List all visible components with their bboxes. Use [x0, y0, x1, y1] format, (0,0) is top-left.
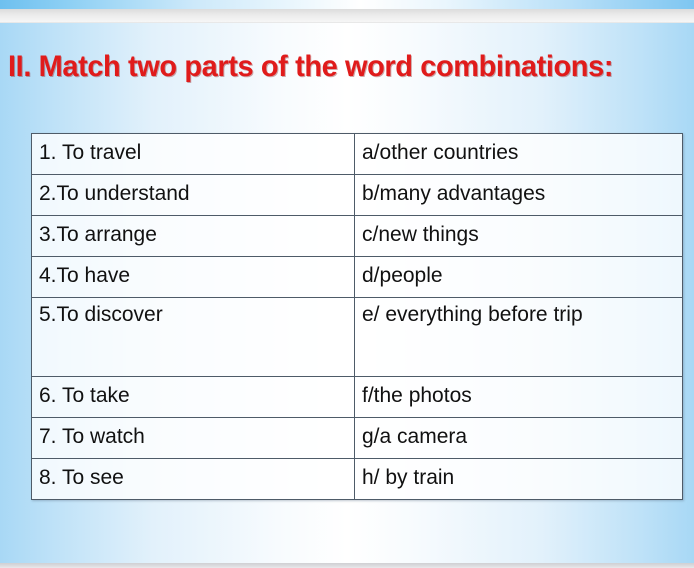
table-cell-left: 6. To take [32, 377, 355, 418]
table-cell-right: h/ by train [355, 459, 683, 500]
table-cell-right: g/a camera [355, 418, 683, 459]
table-cell-left: 2.To understand [32, 175, 355, 216]
slide: II. Match two parts of the word combinat… [0, 0, 694, 568]
table-cell-right: f/the photos [355, 377, 683, 418]
table-cell-left: 1. To travel [32, 134, 355, 175]
table-cell-left: 3.To arrange [32, 216, 355, 257]
table-row: 4.To have d/people [32, 257, 683, 298]
word-combinations-table: 1. To travel a/other countries 2.To unde… [31, 133, 683, 500]
table-cell-left: 7. To watch [32, 418, 355, 459]
table-row: 1. To travel a/other countries [32, 134, 683, 175]
top-grey-band [0, 9, 694, 23]
table-cell-right: b/many advantages [355, 175, 683, 216]
table-row: 3.To arrange c/new things [32, 216, 683, 257]
table-cell-right: c/new things [355, 216, 683, 257]
table-cell-right: d/people [355, 257, 683, 298]
page-title: II. Match two parts of the word combinat… [8, 50, 670, 83]
bottom-grey-band [0, 563, 694, 568]
table-cell-left: 5.To discover [32, 298, 355, 377]
table-row: 2.To understand b/many advantages [32, 175, 683, 216]
table-body: 1. To travel a/other countries 2.To unde… [32, 134, 683, 500]
table-cell-right: e/ everything before trip [355, 298, 683, 377]
top-decorative-strip [0, 0, 694, 9]
table-cell-right: a/other countries [355, 134, 683, 175]
table-row: 7. To watch g/a camera [32, 418, 683, 459]
table-row: 6. To take f/the photos [32, 377, 683, 418]
table-cell-left: 8. To see [32, 459, 355, 500]
table-row: 5.To discover e/ everything before trip [32, 298, 683, 377]
table-cell-left: 4.To have [32, 257, 355, 298]
table-row: 8. To see h/ by train [32, 459, 683, 500]
